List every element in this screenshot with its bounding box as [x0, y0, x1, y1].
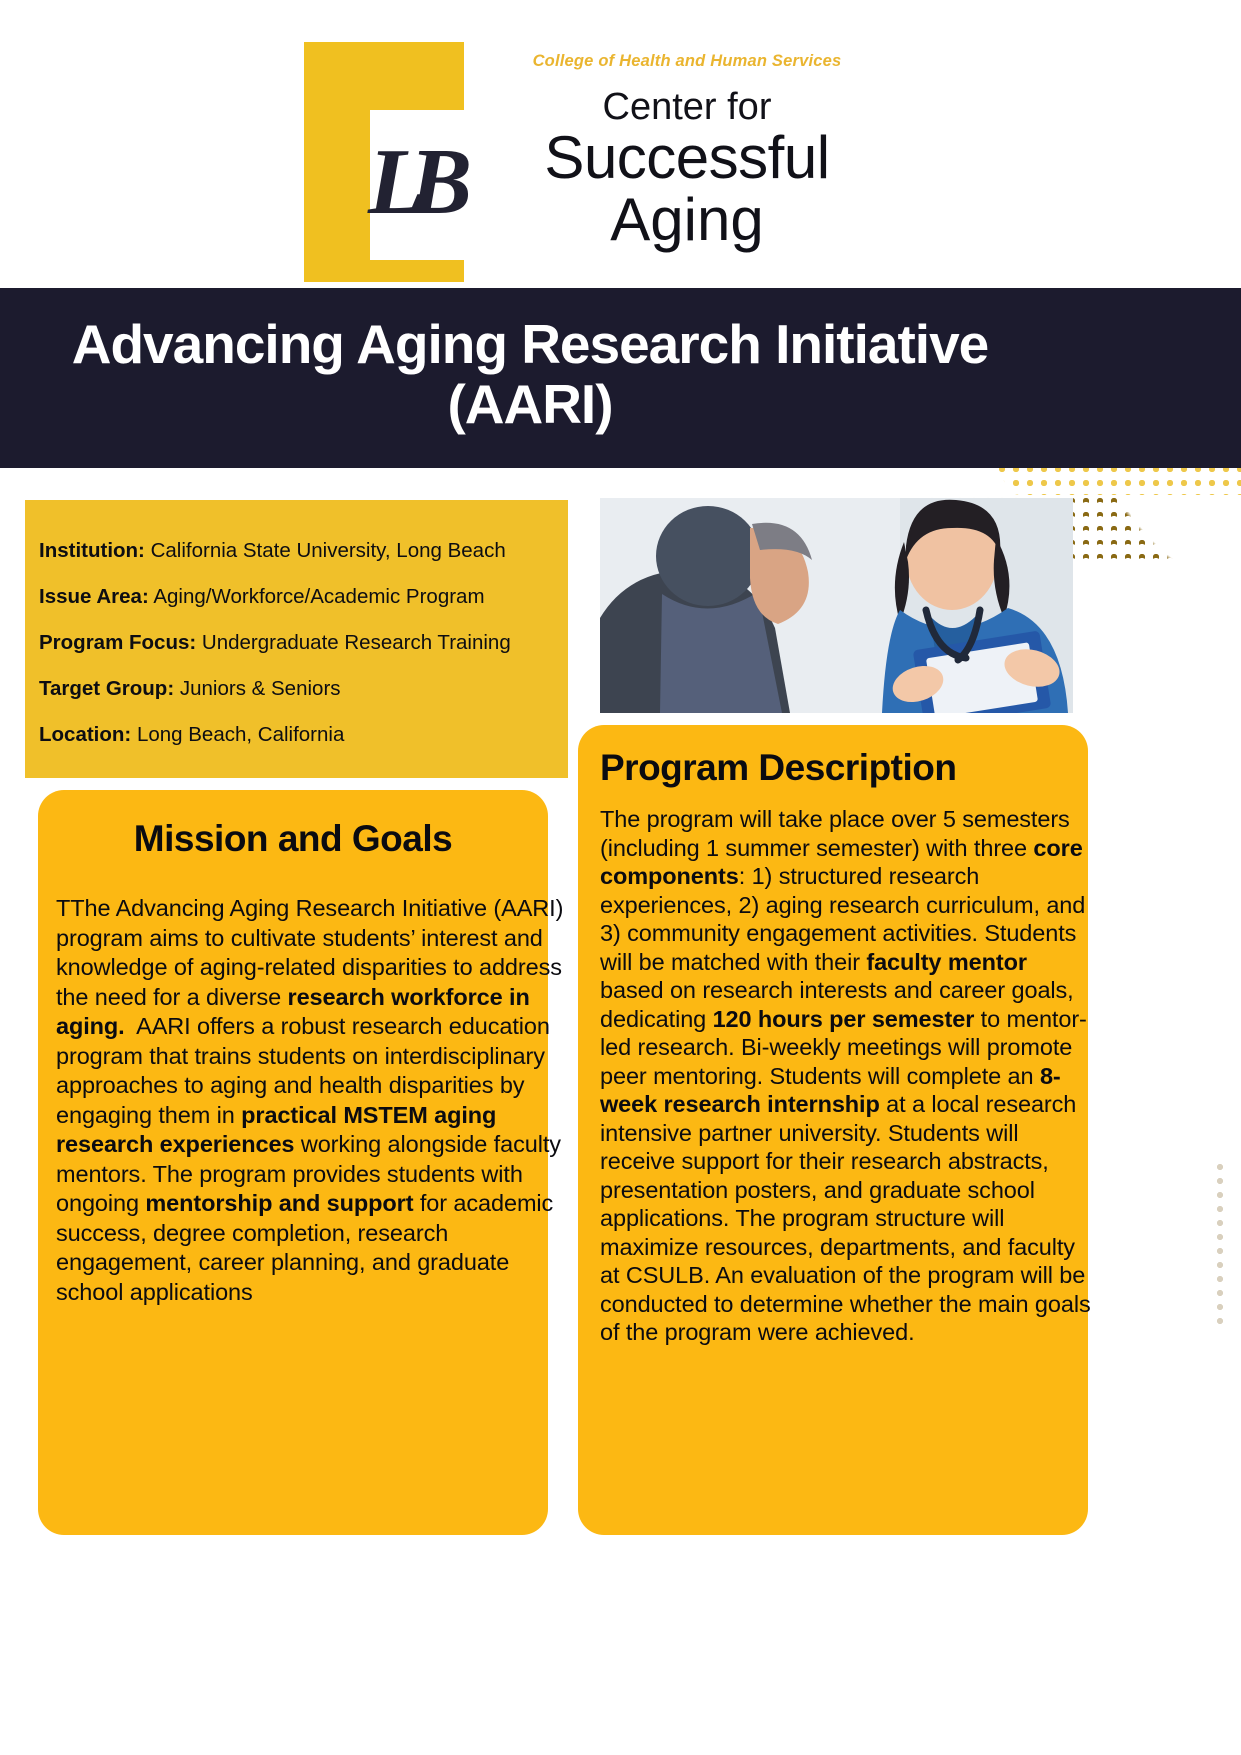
logo-line-3: Aging [472, 189, 902, 251]
description-card-title: Program Description [578, 725, 1088, 789]
description-card-body: The program will take place over 5 semes… [600, 805, 1092, 1347]
mission-card-body: TThe Advancing Aging Research Initiative… [56, 894, 566, 1307]
info-label: Program Focus: [39, 631, 196, 654]
photo-illustration [600, 498, 1073, 713]
info-row: Institution: California State University… [39, 538, 568, 564]
mission-and-goals-card: Mission and Goals TThe Advancing Aging R… [38, 790, 548, 1535]
page-title: Advancing Aging Research Initiative (AAR… [0, 314, 1060, 434]
info-label: Location: [39, 723, 131, 746]
title-band: Advancing Aging Research Initiative (AAR… [0, 288, 1241, 468]
program-description-card: Program Description The program will tak… [578, 725, 1088, 1535]
info-value: California State University, Long Beach [151, 539, 506, 562]
side-dots-decoration [1213, 1160, 1229, 1330]
info-row: Issue Area: Aging/Workforce/Academic Pro… [39, 584, 568, 610]
logo-band: LB College of Health and Human Services … [0, 0, 1241, 318]
info-label: Institution: [39, 539, 145, 562]
logo-line-1: Center for [472, 87, 902, 127]
info-row: Location: Long Beach, California [39, 722, 568, 748]
mission-card-title: Mission and Goals [38, 790, 548, 860]
info-label: Issue Area: [39, 585, 149, 608]
info-value: Juniors & Seniors [180, 677, 341, 700]
csulb-lb-monogram-icon: LB [362, 128, 462, 240]
info-value: Undergraduate Research Training [202, 631, 511, 654]
info-value: Aging/Workforce/Academic Program [153, 585, 484, 608]
info-row: Target Group: Juniors & Seniors [39, 676, 568, 702]
info-value: Long Beach, California [137, 723, 344, 746]
program-info-box: Institution: California State University… [25, 500, 568, 778]
info-row: Program Focus: Undergraduate Research Tr… [39, 630, 568, 656]
healthcare-workers-photo [600, 498, 1073, 713]
info-label: Target Group: [39, 677, 174, 700]
college-name: College of Health and Human Services [472, 52, 902, 71]
logo-wordmark: College of Health and Human Services Cen… [472, 52, 902, 251]
poster-page: LB College of Health and Human Services … [0, 0, 1241, 1755]
logo-line-2: Successful [472, 127, 902, 189]
